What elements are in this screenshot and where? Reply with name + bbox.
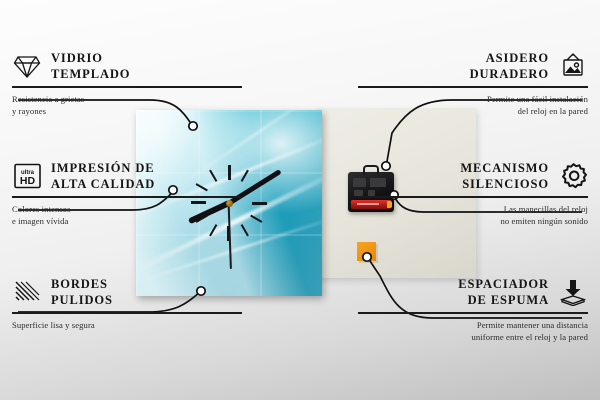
gear-icon: [558, 161, 588, 191]
feature-divider: [12, 312, 242, 314]
feature-description: Resistencia a grietas y rayones: [12, 93, 242, 117]
feature-divider: [358, 312, 588, 314]
feature-title: ASIDERO DURADERO: [470, 50, 549, 82]
feature-heading: BORDES PULIDOS: [12, 276, 242, 308]
feature-divider: [358, 196, 588, 198]
feature-description: Permite una fácil instalación del reloj …: [358, 93, 588, 117]
feature-vidrio-templado: VIDRIO TEMPLADO Resistencia a grietas y …: [12, 50, 242, 117]
feature-heading: ASIDERO DURADERO: [358, 50, 588, 82]
feature-heading: VIDRIO TEMPLADO: [12, 50, 242, 82]
feature-heading: ultra HD IMPRESIÓN DE ALTA CALIDAD: [12, 160, 242, 192]
polished-edges-icon: [12, 277, 42, 307]
diamond-icon: [12, 51, 42, 81]
feature-divider: [12, 86, 242, 88]
feature-mecanismo-silencioso: MECANISMO SILENCIOSO Las manecillas del …: [358, 160, 588, 227]
feature-title: ESPACIADOR DE ESPUMA: [458, 276, 549, 308]
feature-description: Superficie lisa y segura: [12, 319, 242, 331]
feature-description: Las manecillas del reloj no emiten ningú…: [358, 203, 588, 227]
foam-spacer-image: [357, 242, 376, 261]
feature-impresion-alta-calidad: ultra HD IMPRESIÓN DE ALTA CALIDAD Color…: [12, 160, 242, 227]
feature-asidero-duradero: ASIDERO DURADERO Permite una fácil insta…: [358, 50, 588, 117]
hanging-frame-icon: [558, 51, 588, 81]
feature-title: IMPRESIÓN DE ALTA CALIDAD: [51, 160, 155, 192]
infographic-stage: VIDRIO TEMPLADO Resistencia a grietas y …: [0, 0, 600, 400]
feature-divider: [12, 196, 242, 198]
feature-title: MECANISMO SILENCIOSO: [460, 160, 549, 192]
press-down-icon: [558, 277, 588, 307]
feature-heading: MECANISMO SILENCIOSO: [358, 160, 588, 192]
feature-espaciador-de-espuma: ESPACIADOR DE ESPUMA Permite mantener un…: [358, 276, 588, 343]
svg-text:HD: HD: [19, 175, 35, 187]
feature-title: BORDES PULIDOS: [51, 276, 113, 308]
feature-title: VIDRIO TEMPLADO: [51, 50, 130, 82]
feature-heading: ESPACIADOR DE ESPUMA: [358, 276, 588, 308]
feature-bordes-pulidos: BORDES PULIDOS Superficie lisa y segura: [12, 276, 242, 331]
feature-description: Permite mantener una distancia uniforme …: [358, 319, 588, 343]
feature-divider: [358, 86, 588, 88]
feature-description: Colores intensos e imagen vívida: [12, 203, 242, 227]
ultra-hd-icon: ultra HD: [12, 161, 42, 191]
